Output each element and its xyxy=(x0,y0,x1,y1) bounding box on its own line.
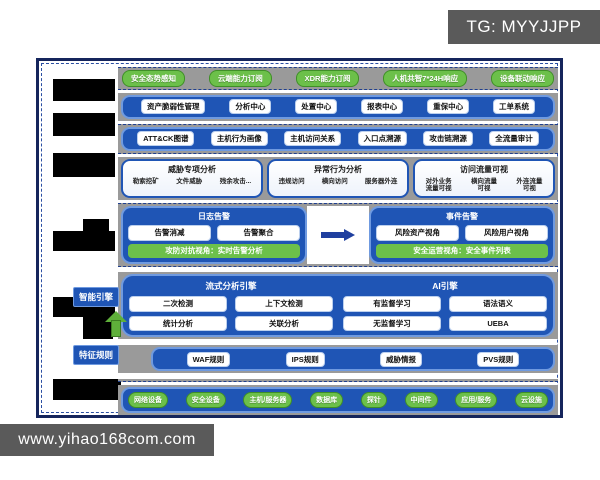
redacted-label-block-6 xyxy=(53,379,121,400)
engine-ai-item-3[interactable]: UEBA xyxy=(449,316,547,332)
alert-flow-arrow-cell xyxy=(307,206,369,264)
infra-item-0[interactable]: 网络设备 xyxy=(128,392,168,408)
engine-stream-title: 流式分析引擎 xyxy=(129,280,333,292)
engine-ai-item-0[interactable]: 有监督学习 xyxy=(343,296,441,312)
analysis-panel-behavior-title: 异常行为分析 xyxy=(271,164,405,175)
engine-ai-item-2[interactable]: 无监督学习 xyxy=(343,316,441,332)
platform-item-5[interactable]: 工单系统 xyxy=(493,99,535,115)
analysis-panel-threat-item-0: 勒索挖矿 xyxy=(133,178,159,185)
analysis-panel-row: 威胁专项分析 勒索挖矿 文件威胁 残余攻击... 异常行为分析 违规访问 横向访… xyxy=(118,157,558,201)
engine-stream-item-2[interactable]: 统计分析 xyxy=(129,316,227,332)
redacted-label-block-1 xyxy=(53,79,115,101)
analysis-panel-behavior-item-1: 横向访问 xyxy=(322,178,348,185)
trace-item-2[interactable]: 主机访问关系 xyxy=(284,131,341,147)
platform-item-2[interactable]: 处置中心 xyxy=(295,99,337,115)
event-alert-item-0[interactable]: 风险资产视角 xyxy=(376,225,459,241)
engine-stream-item-3[interactable]: 关联分析 xyxy=(235,316,333,332)
analysis-panel-traffic-item-2: 外连流量 可视 xyxy=(516,178,542,193)
infra-divider xyxy=(118,379,558,382)
diagram-content: 安全态势感知 云端能力订阅 XDR能力订阅 人机共智7*24H响应 设备联动响应… xyxy=(118,67,558,415)
log-alert-item-0[interactable]: 告警消减 xyxy=(128,225,211,241)
analysis-panel-behavior[interactable]: 异常行为分析 违规访问 横向访问 服务器外连 xyxy=(267,159,409,199)
platform-item-4[interactable]: 重保中心 xyxy=(427,99,469,115)
redacted-label-block-4b xyxy=(83,219,109,233)
platform-item-0[interactable]: 资产脆弱性管理 xyxy=(141,99,206,115)
infra-item-1[interactable]: 安全设备 xyxy=(186,392,226,408)
capability-item-2[interactable]: XDR能力订阅 xyxy=(296,70,360,87)
platform-row: 资产脆弱性管理 分析中心 处置中心 报表中心 重保中心 工单系统 xyxy=(121,95,555,119)
alert-row: 日志告警 告警消减 告警聚合 攻防对抗视角：实时告警分析 事件告警 风险资产视角… xyxy=(118,203,558,267)
event-alert-highlight[interactable]: 安全运营视角：安全事件列表 xyxy=(376,244,548,259)
analysis-panel-behavior-item-0: 违规访问 xyxy=(279,178,305,185)
capability-item-4[interactable]: 设备联动响应 xyxy=(491,70,554,87)
platform-item-1[interactable]: 分析中心 xyxy=(229,99,271,115)
capability-item-1[interactable]: 云端能力订阅 xyxy=(209,70,272,87)
rules-row: WAF规则 IPS规则 威胁情报 PVS规则 xyxy=(151,347,555,371)
engine-side-label[interactable]: 智能引擎 xyxy=(73,287,119,307)
event-alert-title: 事件告警 xyxy=(376,211,548,222)
watermark-bottom-left: www.yihao168com.com xyxy=(0,424,214,456)
infra-item-5[interactable]: 中间件 xyxy=(405,392,438,408)
analysis-panel-threat[interactable]: 威胁专项分析 勒索挖矿 文件威胁 残余攻击... xyxy=(121,159,263,199)
engine-ai-title: AI引擎 xyxy=(343,280,547,292)
rules-item-3[interactable]: PVS规则 xyxy=(477,352,519,368)
log-alert-item-1[interactable]: 告警聚合 xyxy=(217,225,300,241)
redacted-label-block-2 xyxy=(53,113,115,136)
trace-item-0[interactable]: ATT&CK图谱 xyxy=(137,131,194,147)
trace-item-4[interactable]: 攻击链溯源 xyxy=(423,131,473,147)
engine-stream-item-1[interactable]: 上下文检测 xyxy=(235,296,333,312)
capability-item-0[interactable]: 安全态势感知 xyxy=(122,70,185,87)
analysis-panel-traffic-item-0: 对外业务 流量可视 xyxy=(426,178,452,193)
architecture-diagram-frame: 安全态势感知 云端能力订阅 XDR能力订阅 人机共智7*24H响应 设备联动响应… xyxy=(36,58,563,418)
rules-row-band: WAF规则 IPS规则 威胁情报 PVS规则 xyxy=(118,345,558,373)
engine-ai-item-1[interactable]: 语法语义 xyxy=(449,296,547,312)
infra-item-6[interactable]: 应用/服务 xyxy=(455,392,497,408)
infra-item-2[interactable]: 主机/服务器 xyxy=(243,392,292,408)
infra-item-4[interactable]: 探针 xyxy=(361,392,387,408)
analysis-panel-traffic-title: 访问流量可视 xyxy=(417,164,551,175)
analysis-panel-threat-title: 威胁专项分析 xyxy=(125,164,259,175)
platform-row-band: 资产脆弱性管理 分析中心 处置中心 报表中心 重保中心 工单系统 xyxy=(118,93,558,121)
capability-item-3[interactable]: 人机共智7*24H响应 xyxy=(383,70,467,87)
redacted-label-block-3 xyxy=(53,153,115,177)
log-alert-highlight[interactable]: 攻防对抗视角：实时告警分析 xyxy=(128,244,300,259)
analysis-panel-threat-item-1: 文件威胁 xyxy=(176,178,202,185)
arrow-up-icon xyxy=(105,311,127,337)
arrow-right-icon xyxy=(321,229,355,241)
engine-row: 流式分析引擎 二次检测 上下文检测 统计分析 关联分析 AI引擎 有监督学习 语… xyxy=(118,272,558,339)
rules-item-1[interactable]: IPS规则 xyxy=(286,352,325,368)
engine-stream-item-0[interactable]: 二次检测 xyxy=(129,296,227,312)
engine-column-stream: 流式分析引擎 二次检测 上下文检测 统计分析 关联分析 xyxy=(129,280,333,331)
engine-box: 流式分析引擎 二次检测 上下文检测 统计分析 关联分析 AI引擎 有监督学习 语… xyxy=(121,274,555,337)
analysis-panel-traffic-item-1: 横向流量 可视 xyxy=(471,178,497,193)
trace-row-band: ATT&CK图谱 主机行为画像 主机访问关系 入口点溯源 攻击链溯源 全流量审计 xyxy=(118,124,558,154)
rules-side-label[interactable]: 特征规则 xyxy=(73,345,119,365)
trace-item-5[interactable]: 全流量审计 xyxy=(489,131,539,147)
event-alert-panel[interactable]: 事件告警 风险资产视角 风险用户视角 安全运营视角：安全事件列表 xyxy=(369,206,555,264)
infra-row-band: 网络设备 安全设备 主机/服务器 数据库 探针 中间件 应用/服务 云设施 xyxy=(118,385,558,415)
infra-item-7[interactable]: 云设施 xyxy=(515,392,548,408)
infra-item-3[interactable]: 数据库 xyxy=(310,392,343,408)
event-alert-item-1[interactable]: 风险用户视角 xyxy=(465,225,548,241)
engine-column-ai: AI引擎 有监督学习 语法语义 无监督学习 UEBA xyxy=(343,280,547,331)
log-alert-title: 日志告警 xyxy=(128,211,300,222)
trace-item-1[interactable]: 主机行为画像 xyxy=(211,131,268,147)
log-alert-panel[interactable]: 日志告警 告警消减 告警聚合 攻防对抗视角：实时告警分析 xyxy=(121,206,307,264)
platform-item-3[interactable]: 报表中心 xyxy=(361,99,403,115)
watermark-top-right: TG: MYYJJPP xyxy=(448,10,600,44)
redacted-label-block-4 xyxy=(53,231,115,251)
capability-row: 安全态势感知 云端能力订阅 XDR能力订阅 人机共智7*24H响应 设备联动响应 xyxy=(118,67,558,90)
infra-row: 网络设备 安全设备 主机/服务器 数据库 探针 中间件 应用/服务 云设施 xyxy=(121,387,555,413)
analysis-panel-threat-item-2: 残余攻击... xyxy=(220,178,251,185)
analysis-panel-traffic[interactable]: 访问流量可视 对外业务 流量可视 横向流量 可视 外连流量 可视 xyxy=(413,159,555,199)
trace-item-3[interactable]: 入口点溯源 xyxy=(358,131,408,147)
rules-item-0[interactable]: WAF规则 xyxy=(187,352,231,368)
analysis-panel-behavior-item-2: 服务器外连 xyxy=(365,178,398,185)
trace-row: ATT&CK图谱 主机行为画像 主机访问关系 入口点溯源 攻击链溯源 全流量审计 xyxy=(121,127,555,151)
rules-item-2[interactable]: 威胁情报 xyxy=(380,352,422,368)
